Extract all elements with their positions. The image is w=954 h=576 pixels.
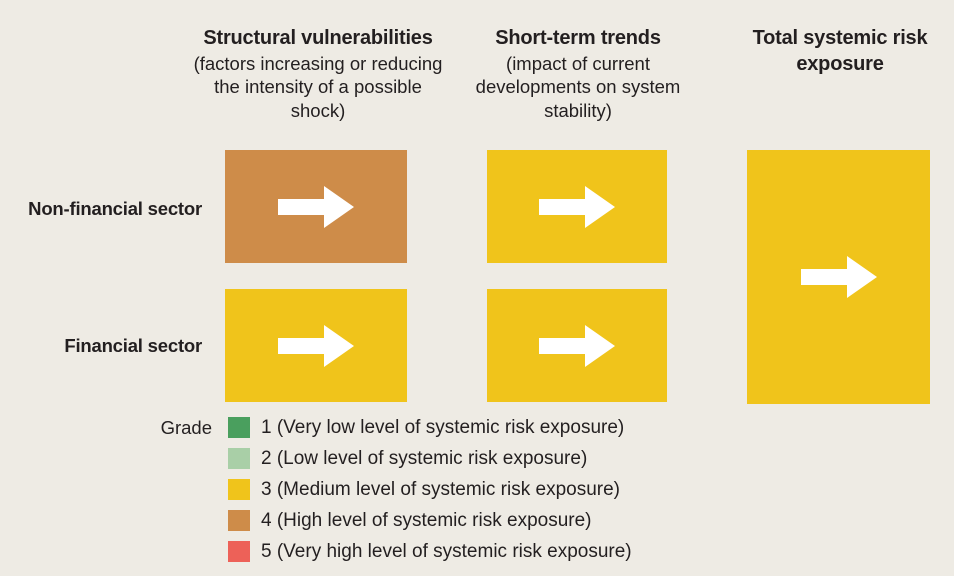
legend-row: Grade 1 (Very low level of systemic risk… <box>0 412 954 443</box>
column-header-short-term-trends: Short-term trends (impact of current dev… <box>470 26 686 123</box>
matrix-cell-non-financial-short-term <box>487 150 667 263</box>
row-label-non-financial-sector: Non-financial sector <box>0 198 202 220</box>
arrow-right-icon <box>278 184 354 230</box>
legend-item-label: 1 (Very low level of systemic risk expos… <box>261 417 624 439</box>
legend: Grade 1 (Very low level of systemic risk… <box>0 412 954 567</box>
legend-row: 3 (Medium level of systemic risk exposur… <box>0 474 954 505</box>
arrow-right-icon <box>539 184 615 230</box>
matrix-cell-non-financial-structural <box>225 150 407 263</box>
column-header-subtitle: (impact of current developments on syste… <box>470 52 686 123</box>
legend-swatch-grade-5 <box>228 541 250 562</box>
column-header-subtitle: (factors increasing or reducing the inte… <box>186 52 450 123</box>
column-header-title: Structural vulnerabilities <box>186 26 450 52</box>
row-label-financial-sector: Financial sector <box>0 335 202 357</box>
legend-swatch-grade-2 <box>228 448 250 469</box>
column-header-title: Total systemic risk exposure <box>742 26 938 77</box>
legend-row: 2 (Low level of systemic risk exposure) <box>0 443 954 474</box>
arrow-right-icon <box>801 254 877 300</box>
legend-item-label: 5 (Very high level of systemic risk expo… <box>261 541 632 563</box>
legend-swatch-grade-1 <box>228 417 250 438</box>
legend-swatch-grade-3 <box>228 479 250 500</box>
matrix-cell-financial-short-term <box>487 289 667 402</box>
column-header-title: Short-term trends <box>470 26 686 52</box>
arrow-right-icon <box>539 323 615 369</box>
column-header-total-systemic-risk-exposure: Total systemic risk exposure <box>742 26 938 77</box>
column-header-structural-vulnerabilities: Structural vulnerabilities (factors incr… <box>186 26 450 123</box>
legend-row: 4 (High level of systemic risk exposure) <box>0 505 954 536</box>
legend-row: 5 (Very high level of systemic risk expo… <box>0 536 954 567</box>
arrow-right-icon <box>278 323 354 369</box>
legend-item-label: 4 (High level of systemic risk exposure) <box>261 510 592 532</box>
legend-grade-label: Grade <box>0 417 212 439</box>
matrix-cell-financial-structural <box>225 289 407 402</box>
matrix-cell-total-systemic-risk-exposure <box>747 150 930 404</box>
legend-swatch-grade-4 <box>228 510 250 531</box>
legend-item-label: 3 (Medium level of systemic risk exposur… <box>261 479 620 501</box>
systemic-risk-matrix: Structural vulnerabilities (factors incr… <box>0 0 954 576</box>
legend-item-label: 2 (Low level of systemic risk exposure) <box>261 448 587 470</box>
